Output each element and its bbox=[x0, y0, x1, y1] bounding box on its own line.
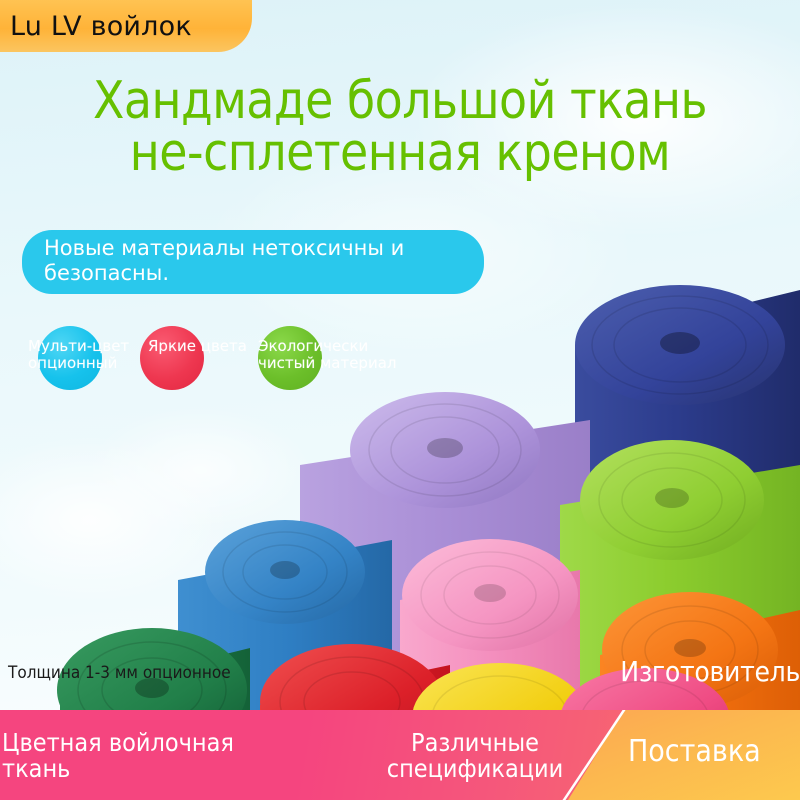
banner-item-2: Различные спецификации bbox=[340, 730, 610, 783]
brand-tab-label: Lu LV войлок bbox=[10, 11, 192, 42]
brand-tab: Lu LV войлок bbox=[0, 0, 252, 52]
promo-poster: Lu LV войлок Хандмаде большой ткань не-с… bbox=[0, 0, 800, 800]
product-photo bbox=[0, 250, 800, 720]
feature-row: Мульти-цвет опционный Яркие цвета Эколог… bbox=[0, 326, 800, 398]
info-pill: Новые материалы нетоксичны и безопасны. bbox=[22, 230, 484, 294]
manufacturer-caption: Изготовитель bbox=[620, 655, 800, 688]
headline-line-1: Хандмаде большой ткань bbox=[8, 76, 792, 126]
feature-label-2: Яркие цвета bbox=[148, 338, 268, 355]
info-pill-text: Новые материалы нетоксичны и безопасны. bbox=[44, 236, 462, 286]
feature-label-1: Мульти-цвет опционный bbox=[28, 338, 160, 372]
headline-line-2: не-сплетенная креном bbox=[8, 128, 792, 178]
bottom-banner: Цветная войлочная ткань Различные специф… bbox=[0, 710, 800, 800]
feature-label-3: Экологически чистый материал bbox=[258, 338, 438, 372]
page-title: Хандмаде большой ткань не-сплетенная кре… bbox=[0, 76, 800, 179]
banner-item-1: Цветная войлочная ткань bbox=[2, 730, 312, 783]
fabric-rolls-illustration bbox=[0, 250, 800, 720]
thickness-caption: Толщина 1-3 мм опционное bbox=[8, 663, 231, 683]
banner-item-3: Поставка bbox=[628, 736, 761, 768]
